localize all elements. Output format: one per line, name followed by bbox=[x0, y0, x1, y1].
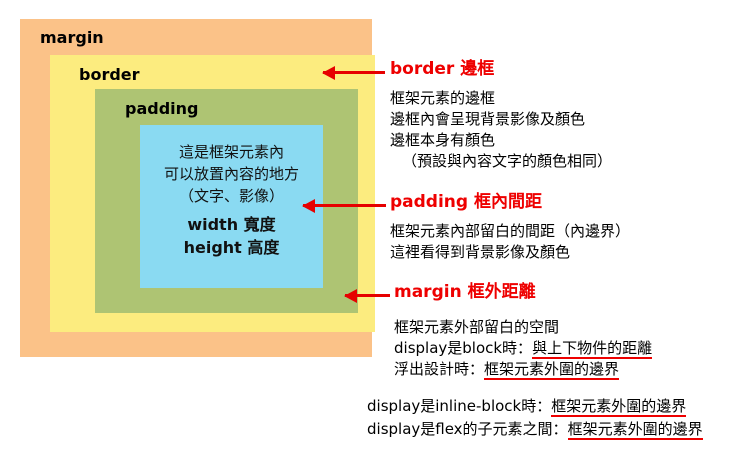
box-model-diagram: margin border padding 這是框架元素內 可以放置內容的地方 … bbox=[20, 19, 372, 357]
border-annotation-title: border 邊框 bbox=[390, 60, 612, 80]
border-annotation-line-1: 框架元素的邊框 bbox=[390, 88, 612, 109]
padding-annotation: padding 框內間距 框架元素內部留白的間距（內邊界） 這裡看得到背景影像及… bbox=[390, 193, 630, 263]
content-text-line-2: 可以放置內容的地方 bbox=[164, 163, 299, 185]
padding-annotation-body: 框架元素內部留白的間距（內邊界） 這裡看得到背景影像及顏色 bbox=[390, 221, 630, 263]
padding-annotation-title: padding 框內間距 bbox=[390, 193, 630, 213]
border-annotation-line-2: 邊框內會呈現背景影像及顏色 bbox=[390, 109, 612, 130]
margin-line-3-prefix: 浮出設計時： bbox=[394, 360, 484, 378]
content-width-label: width 寬度 bbox=[187, 213, 275, 236]
extra-note-line-1: display是inline-block時：框架元素外圍的邊界 bbox=[367, 395, 703, 418]
margin-line-3-emphasis: 框架元素外圍的邊界 bbox=[484, 360, 619, 380]
padding-box-label: padding bbox=[125, 101, 198, 117]
margin-box-label: margin bbox=[40, 30, 104, 46]
extra-note-1-emphasis: 框架元素外圍的邊界 bbox=[551, 397, 686, 417]
margin-annotation-body: 框架元素外部留白的空間 display是block時：與上下物件的距離 浮出設計… bbox=[394, 317, 652, 380]
margin-line-2-emphasis: 與上下物件的距離 bbox=[532, 339, 652, 359]
extra-note-2-prefix: display是flex的子元素之間： bbox=[367, 420, 568, 438]
padding-callout-arrow-icon bbox=[303, 204, 386, 207]
border-annotation: border 邊框 框架元素的邊框 邊框內會呈現背景影像及顏色 邊框本身有顏色 … bbox=[390, 60, 612, 172]
padding-annotation-line-2: 這裡看得到背景影像及顏色 bbox=[390, 242, 630, 263]
border-callout-arrow-icon bbox=[323, 71, 385, 74]
margin-annotation-line-3: 浮出設計時：框架元素外圍的邊界 bbox=[394, 359, 652, 380]
extra-note-line-2: display是flex的子元素之間：框架元素外圍的邊界 bbox=[367, 418, 703, 441]
extra-notes: display是inline-block時：框架元素外圍的邊界 display是… bbox=[367, 395, 703, 441]
extra-note-2-emphasis: 框架元素外圍的邊界 bbox=[568, 420, 703, 440]
border-annotation-body: 框架元素的邊框 邊框內會呈現背景影像及顏色 邊框本身有顏色 （預設與內容文字的顏… bbox=[390, 88, 612, 172]
margin-annotation-line-1: 框架元素外部留白的空間 bbox=[394, 317, 652, 338]
content-text-line-3: （文字、影像） bbox=[179, 185, 284, 207]
extra-note-1-prefix: display是inline-block時： bbox=[367, 397, 551, 415]
content-height-label: height 高度 bbox=[184, 236, 280, 259]
padding-annotation-line-1: 框架元素內部留白的間距（內邊界） bbox=[390, 221, 630, 242]
margin-callout-arrow-icon bbox=[345, 294, 390, 297]
padding-box-area: padding 這是框架元素內 可以放置內容的地方 （文字、影像） width … bbox=[95, 89, 358, 313]
margin-annotation: margin 框外距離 框架元素外部留白的空間 display是block時：與… bbox=[394, 283, 652, 380]
margin-line-2-prefix: display是block時： bbox=[394, 339, 532, 357]
border-annotation-line-4: （預設與內容文字的顏色相同） bbox=[390, 151, 612, 172]
border-annotation-line-3: 邊框本身有顏色 bbox=[390, 130, 612, 151]
border-box-label: border bbox=[79, 67, 140, 83]
content-text-line-1: 這是框架元素內 bbox=[179, 141, 284, 163]
margin-annotation-line-2: display是block時：與上下物件的距離 bbox=[394, 338, 652, 359]
margin-annotation-title: margin 框外距離 bbox=[394, 283, 652, 303]
content-box-area: 這是框架元素內 可以放置內容的地方 （文字、影像） width 寬度 heigh… bbox=[140, 125, 323, 288]
border-box-area: border padding 這是框架元素內 可以放置內容的地方 （文字、影像）… bbox=[50, 55, 375, 332]
